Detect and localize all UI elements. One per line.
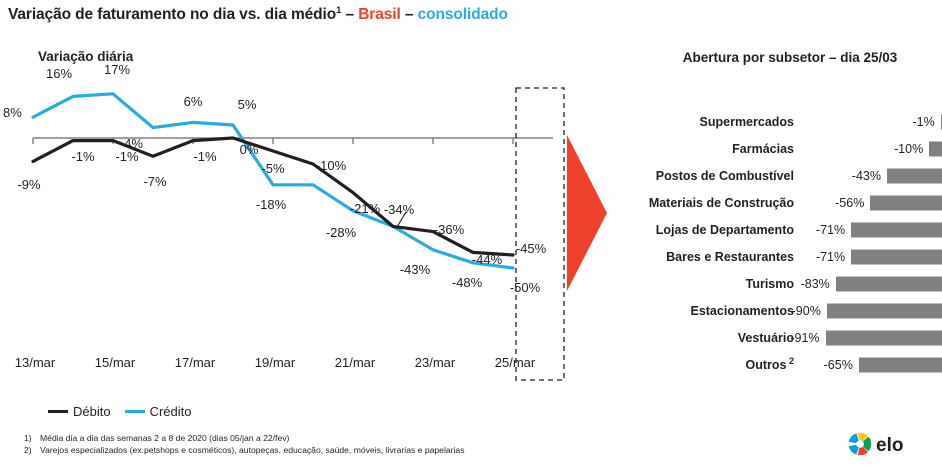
bar-value-label: -71% [816, 250, 848, 264]
data-label-credito-1: 16% [46, 66, 72, 81]
bar-row: Outros 2-65% [612, 351, 942, 378]
xaxis-label-17-mar: 17/mar [175, 355, 215, 370]
bar-category-label: Turismo [612, 277, 800, 291]
data-label-debito-6: -5% [261, 161, 284, 176]
bar-track: -71% [800, 243, 942, 270]
data-label-credito-2: 17% [104, 62, 130, 77]
bar-row: Bares e Restaurantes-71% [612, 243, 942, 270]
page-title-separator-1: – [341, 6, 358, 23]
data-label-debito-9: -34% [384, 202, 414, 217]
page-title-separator-2: – [401, 6, 418, 23]
bar-category-label: Postos de Combustível [612, 169, 800, 183]
bar-value-label: -90% [792, 304, 824, 318]
bar-category-label: Bares e Restaurantes [612, 250, 800, 264]
bar-row: Lojas de Departamento-71% [612, 216, 942, 243]
bar-row: Farmácias-10% [612, 135, 942, 162]
bar-chart-title: Abertura por subsetor – dia 25/03 [640, 50, 940, 65]
bar-rect [827, 303, 942, 318]
bar-rect [929, 141, 942, 156]
elo-logo-svg: elo [846, 430, 926, 458]
xaxis-label-19-mar: 19/mar [255, 355, 295, 370]
bar-category-label: Farmácias [612, 142, 800, 156]
elo-logo-wordmark: elo [876, 435, 903, 456]
bar-row: Postos de Combustível-43% [612, 162, 942, 189]
series-line-credito [33, 94, 513, 268]
bar-category-label: Materiais de Construção [612, 196, 800, 210]
footnote-text: Varejos especializados (ex.petshops e co… [40, 445, 465, 455]
bar-value-label: -10% [894, 142, 926, 156]
bar-rect [870, 195, 942, 210]
bar-category-label: Estacionamentos [612, 304, 800, 318]
data-label-credito-6: -18% [256, 197, 286, 212]
bar-track: -90% [800, 297, 942, 324]
bar-category-label: Vestuário [612, 331, 800, 345]
data-label-debito-12: -45% [516, 241, 546, 256]
data-label-debito-8: -21% [350, 201, 380, 216]
data-label-debito-3: -7% [143, 174, 166, 189]
bar-category-label: Outros 2 [612, 356, 800, 372]
bar-value-label: -56% [835, 196, 867, 210]
bar-track: -91% [800, 324, 942, 351]
bar-value-label: -65% [824, 358, 856, 372]
footnote-text: Média dia a dia das semanas 2 a 8 de 202… [40, 433, 289, 443]
legend-label: Crédito [150, 404, 192, 419]
xaxis-label-23-mar: 23/mar [415, 355, 455, 370]
page-title-scope: consolidado [418, 6, 508, 23]
legend-item-credito[interactable]: Crédito [125, 404, 192, 419]
data-label-credito-5: 5% [238, 97, 257, 112]
bar-track: -56% [800, 189, 942, 216]
data-label-credito-0: 8% [3, 105, 22, 120]
data-label-debito-1: -1% [71, 149, 94, 164]
data-label-debito-4: -1% [193, 149, 216, 164]
legend-swatch-icon [125, 410, 145, 413]
data-label-credito-10: -43% [400, 262, 430, 277]
data-label-debito-5: 0% [240, 142, 259, 157]
bar-row: Vestuário-91% [612, 324, 942, 351]
line-chart-svg [0, 60, 610, 390]
bar-value-label: -43% [852, 169, 884, 183]
data-label-credito-4: 6% [184, 94, 203, 109]
footnote-number: 2) [24, 444, 40, 456]
legend-item-debito[interactable]: Débito [48, 404, 111, 419]
bar-rect [887, 168, 942, 183]
page-title-main: Variação de faturamento no dia vs. dia m… [8, 6, 336, 23]
footnote-number: 1) [24, 432, 40, 444]
bar-rect [851, 222, 942, 237]
legend-swatch-icon [48, 410, 68, 413]
page-title: Variação de faturamento no dia vs. dia m… [8, 5, 508, 24]
bar-track: -71% [800, 216, 942, 243]
highlight-box-25mar [516, 88, 564, 380]
bar-value-label: -71% [816, 223, 848, 237]
footnotes: 1)Média dia a dia das semanas 2 a 8 de 2… [24, 432, 465, 456]
xaxis-label-21-mar: 21/mar [335, 355, 375, 370]
legend-label: Débito [73, 404, 111, 419]
xaxis-label-25-mar: 25/mar [495, 355, 535, 370]
bar-row: Supermercados-1% [612, 108, 942, 135]
bar-rect [851, 249, 942, 264]
xaxis-label-13-mar: 13/mar [15, 355, 55, 370]
line-chart: -9%-1%-1%-7%-1%0%-5%-10%-21%-34%-36%-44%… [0, 60, 610, 390]
bar-value-label: -91% [790, 331, 822, 345]
bar-row: Estacionamentos-90% [612, 297, 942, 324]
bar-category-label: Lojas de Departamento [612, 223, 800, 237]
bar-row: Turismo-83% [612, 270, 942, 297]
data-label-debito-7: -10% [316, 158, 346, 173]
bar-value-label: -1% [913, 115, 938, 129]
bar-track: -43% [800, 162, 942, 189]
footnote: 2)Varejos especializados (ex.petshops e … [24, 444, 465, 456]
bar-track: -65% [800, 351, 942, 378]
data-label-credito-11: -48% [452, 275, 482, 290]
footnote: 1)Média dia a dia das semanas 2 a 8 de 2… [24, 432, 465, 444]
data-label-debito-11: -44% [472, 252, 502, 267]
bar-chart: Supermercados-1%Farmácias-10%Postos de C… [612, 108, 942, 386]
bar-track: -83% [800, 270, 942, 297]
data-label-debito-0: -9% [17, 177, 40, 192]
bar-category-label: Supermercados [612, 115, 800, 129]
bar-track: -10% [800, 135, 942, 162]
elo-logo: elo [846, 430, 926, 458]
bar-rect [859, 357, 942, 372]
data-label-credito-8: -28% [326, 225, 356, 240]
xaxis-label-15-mar: 15/mar [95, 355, 135, 370]
data-label-credito-12: -50% [510, 280, 540, 295]
data-label-debito-2: -1% [115, 149, 138, 164]
bar-category-footnote-marker: 2 [786, 356, 794, 366]
data-label-debito-10: -36% [434, 222, 464, 237]
data-label-credito-3: 4% [124, 136, 143, 151]
bar-row: Materiais de Construção-56% [612, 189, 942, 216]
line-chart-legend: DébitoCrédito [48, 400, 206, 418]
bar-track: -1% [800, 108, 942, 135]
bar-value-label: -83% [801, 277, 833, 291]
red-arrow-icon [565, 133, 609, 293]
bar-rect [826, 330, 942, 345]
bar-rect [836, 276, 942, 291]
page-title-country: Brasil [358, 6, 400, 23]
